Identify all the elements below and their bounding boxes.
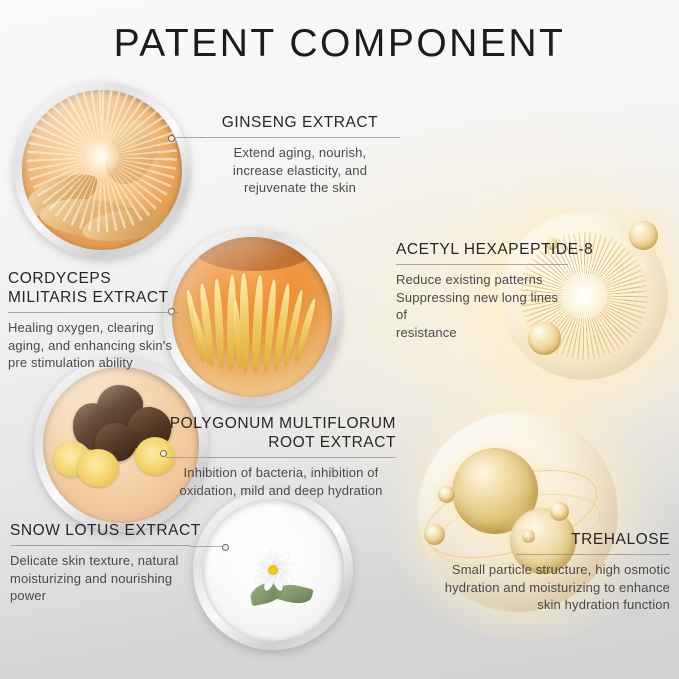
component-block-polygonum: POLYGONUM MULTIFLORUM ROOT EXTRACT Inhib… bbox=[166, 414, 396, 499]
heading-polygonum-line1: POLYGONUM MULTIFLORUM bbox=[166, 414, 396, 433]
leader-line-ginseng bbox=[172, 137, 202, 138]
heading-rule bbox=[396, 264, 568, 265]
heading-rule bbox=[200, 137, 400, 138]
gold-droplet bbox=[550, 502, 569, 521]
heading-cordyceps-line2: MILITARIS EXTRACT bbox=[8, 288, 178, 307]
heading-cordyceps-line1: CORDYCEPS bbox=[8, 269, 178, 288]
gold-droplet bbox=[629, 221, 658, 250]
body-trehalose: Small particle structure, high osmotic h… bbox=[430, 561, 670, 614]
heading-snow-lotus: SNOW LOTUS EXTRACT bbox=[10, 521, 190, 540]
heading-rule bbox=[8, 312, 178, 313]
body-ginseng: Extend aging, nourish, increase elastici… bbox=[200, 144, 400, 197]
gold-droplet bbox=[438, 486, 455, 503]
petri-dish-snow-lotus bbox=[193, 490, 353, 650]
heading-polygonum-line2: ROOT EXTRACT bbox=[166, 433, 396, 452]
ginseng-core-glow bbox=[85, 140, 119, 174]
cordyceps-cap bbox=[194, 237, 314, 271]
lotus-center bbox=[268, 565, 278, 575]
heading-rule bbox=[10, 545, 190, 546]
component-block-ginseng: GINSENG EXTRACT Extend aging, nourish, i… bbox=[200, 113, 400, 197]
body-polygonum: Inhibition of bacteria, inhibition of ox… bbox=[166, 464, 396, 499]
polygonum-root-slice bbox=[77, 449, 119, 487]
heading-rule bbox=[166, 457, 396, 458]
component-block-cordyceps: CORDYCEPS MILITARIS EXTRACT Healing oxyg… bbox=[8, 269, 178, 372]
heading-acetyl-hexapeptide: ACETYL HEXAPEPTIDE-8 bbox=[396, 240, 568, 259]
component-block-acetyl-hexapeptide: ACETYL HEXAPEPTIDE-8 Reduce existing pat… bbox=[396, 240, 568, 341]
leader-line-snow-lotus bbox=[190, 546, 224, 547]
petri-dish-cordyceps bbox=[163, 228, 341, 406]
dish-contents-cordyceps bbox=[172, 237, 332, 397]
component-block-snow-lotus: SNOW LOTUS EXTRACT Delicate skin texture… bbox=[10, 521, 190, 605]
body-acetyl-hexapeptide: Reduce existing patterns Suppressing new… bbox=[396, 271, 568, 341]
cordyceps-strand bbox=[250, 275, 264, 373]
cordyceps-strand bbox=[213, 279, 226, 369]
connector-dot-snow-lotus bbox=[222, 544, 229, 551]
connector-dot-polygonum bbox=[160, 450, 167, 457]
heading-ginseng: GINSENG EXTRACT bbox=[200, 113, 400, 132]
heading-rule bbox=[516, 554, 670, 555]
heading-trehalose: TREHALOSE bbox=[430, 530, 670, 549]
dish-contents-snow-lotus bbox=[202, 499, 344, 641]
body-cordyceps: Healing oxygen, clearing aging, and enha… bbox=[8, 319, 178, 372]
patent-component-infographic: PATENT COMPONENT bbox=[0, 0, 679, 679]
connector-dot-ginseng bbox=[168, 135, 175, 142]
component-block-trehalose: TREHALOSE Small particle structure, high… bbox=[430, 530, 670, 614]
connector-dot-cordyceps bbox=[168, 308, 175, 315]
page-title: PATENT COMPONENT bbox=[0, 22, 679, 66]
dish-contents-ginseng bbox=[22, 90, 182, 250]
body-snow-lotus: Delicate skin texture, natural moisturiz… bbox=[10, 552, 190, 605]
petri-dish-ginseng bbox=[14, 82, 190, 258]
